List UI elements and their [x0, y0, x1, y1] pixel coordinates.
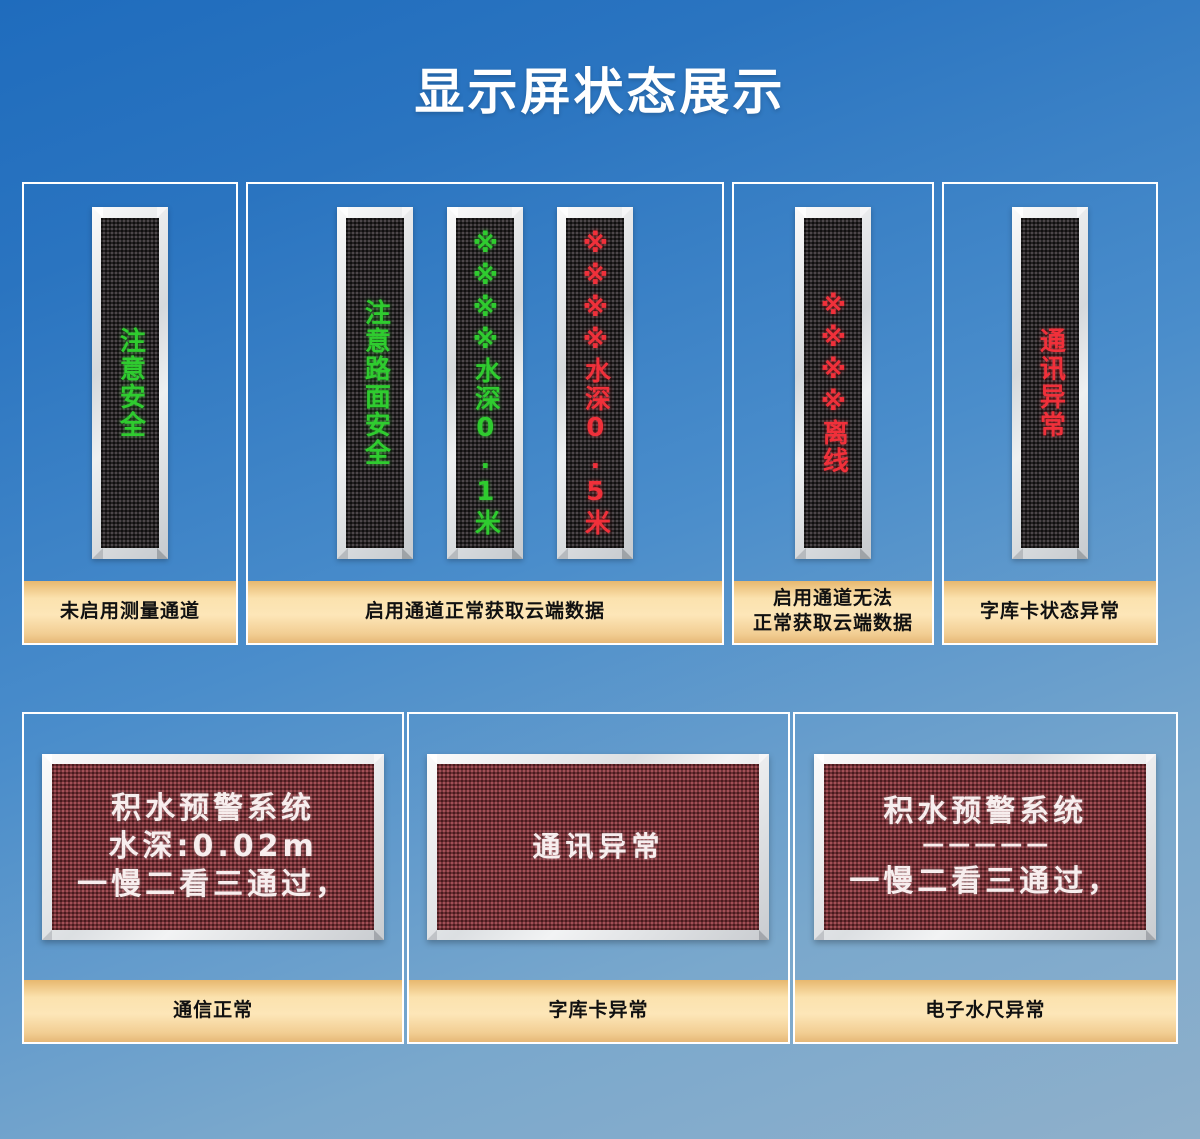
led-text: ※※※※水深0.1米: [470, 229, 501, 537]
frame-bevel-top-right-icon: [622, 207, 633, 218]
frame-bevel-bottom-right-icon: [374, 930, 384, 940]
frame-bevel-bottom-left-icon: [92, 548, 103, 559]
panel-caption: 电子水尺异常: [795, 980, 1176, 1042]
panel-body: ※※※※离线: [734, 184, 932, 581]
led-text: 注意路面安全: [360, 299, 391, 467]
vertical-led-offline: ※※※※离线: [795, 207, 871, 559]
frame-bevel-bottom-left-icon: [795, 548, 806, 559]
panel-communication-normal[interactable]: 积水预警系统 水深:0.02m 一慢二看三通过， 通信正常: [22, 712, 404, 1044]
frame-bevel-bottom-left-icon: [814, 930, 824, 940]
led-text-line-3: 一慢二看三通过，: [849, 863, 1121, 901]
frame-bevel-bottom-right-icon: [1146, 930, 1156, 940]
led-text: 通讯异常: [1035, 327, 1066, 439]
panel-cloud-data-failure[interactable]: ※※※※离线 启用通道无法 正常获取云端数据: [732, 182, 934, 645]
panel-caption-line-1: 启用通道无法: [753, 587, 913, 612]
page-title: 显示屏状态展示: [0, 0, 1200, 124]
frame-bevel-top-right-icon: [759, 754, 769, 764]
frame-bevel-bottom-right-icon: [512, 548, 523, 559]
led-text: ※※※※水深0.5米: [580, 229, 611, 537]
frame-bevel-bottom-left-icon: [337, 548, 348, 559]
led-matrix: 积水预警系统 水深:0.02m 一慢二看三通过，: [52, 764, 374, 930]
frame-bevel-top-left-icon: [795, 207, 806, 218]
led-text-line-1: 积水预警系统: [883, 793, 1087, 831]
panel-font-card-status-abnormal[interactable]: 通讯异常 字库卡状态异常: [942, 182, 1158, 645]
frame-bevel-bottom-right-icon: [157, 548, 168, 559]
led-text-line-3: 一慢二看三通过，: [77, 866, 349, 904]
led-text: ※※※※离线: [818, 291, 849, 475]
panel-caption: 字库卡状态异常: [944, 581, 1156, 643]
panel-no-measurement-channel[interactable]: 注意安全 未启用测量通道: [22, 182, 238, 645]
led-matrix: ※※※※水深0.5米: [566, 218, 624, 548]
horizontal-led-comm-normal: 积水预警系统 水深:0.02m 一慢二看三通过，: [42, 754, 384, 940]
frame-bevel-bottom-right-icon: [622, 548, 633, 559]
panel-body: 通讯异常: [944, 184, 1156, 581]
status-panel-row-bottom: 积水预警系统 水深:0.02m 一慢二看三通过， 通信正常 通讯异常 字库卡异常: [22, 712, 1178, 1044]
vertical-led-comm-abnormal: 通讯异常: [1012, 207, 1088, 559]
led-matrix: 通讯异常: [1021, 218, 1079, 548]
horizontal-led-font-card-error: 通讯异常: [427, 754, 769, 940]
frame-bevel-top-left-icon: [427, 754, 437, 764]
vertical-led-depth-05: ※※※※水深0.5米: [557, 207, 633, 559]
panel-caption-line-2: 正常获取云端数据: [753, 612, 913, 637]
led-matrix: 注意路面安全: [346, 218, 404, 548]
frame-bevel-bottom-right-icon: [860, 548, 871, 559]
panel-cloud-data-normal[interactable]: 注意路面安全 ※※※※水深0.1米 ※※※※水深0.5米: [246, 182, 724, 645]
led-text: 注意安全: [115, 327, 146, 439]
frame-bevel-top-right-icon: [860, 207, 871, 218]
panel-caption: 未启用测量通道: [24, 581, 236, 643]
panel-caption: 字库卡异常: [409, 980, 787, 1042]
frame-bevel-top-left-icon: [42, 754, 52, 764]
panel-body: 积水预警系统 －－－－－ 一慢二看三通过，: [795, 714, 1176, 980]
led-text-line-2: 水深:0.02m: [109, 828, 318, 866]
led-matrix: 通讯异常: [437, 764, 759, 930]
frame-bevel-top-left-icon: [337, 207, 348, 218]
panel-caption: 启用通道正常获取云端数据: [248, 581, 722, 643]
panel-body: 注意路面安全 ※※※※水深0.1米 ※※※※水深0.5米: [248, 184, 722, 581]
frame-bevel-bottom-right-icon: [402, 548, 413, 559]
led-matrix: 积水预警系统 －－－－－ 一慢二看三通过，: [824, 764, 1146, 930]
frame-bevel-top-right-icon: [157, 207, 168, 218]
frame-bevel-top-right-icon: [1146, 754, 1156, 764]
panel-body: 积水预警系统 水深:0.02m 一慢二看三通过，: [24, 714, 402, 980]
frame-bevel-top-right-icon: [512, 207, 523, 218]
led-matrix: ※※※※离线: [804, 218, 862, 548]
frame-bevel-bottom-left-icon: [557, 548, 568, 559]
panel-caption: 通信正常: [24, 980, 402, 1042]
status-panel-row-top: 注意安全 未启用测量通道 注意路面安全: [22, 182, 1178, 645]
led-text-line-1: 通讯异常: [532, 829, 664, 864]
frame-bevel-top-left-icon: [557, 207, 568, 218]
led-matrix: 注意安全: [101, 218, 159, 548]
frame-bevel-top-left-icon: [814, 754, 824, 764]
vertical-led-road-safety: 注意路面安全: [337, 207, 413, 559]
frame-bevel-top-right-icon: [1077, 207, 1088, 218]
frame-bevel-bottom-right-icon: [1077, 548, 1088, 559]
frame-bevel-top-right-icon: [402, 207, 413, 218]
frame-bevel-top-left-icon: [447, 207, 458, 218]
frame-bevel-bottom-left-icon: [427, 930, 437, 940]
frame-bevel-top-left-icon: [92, 207, 103, 218]
panel-electronic-water-ruler-error[interactable]: 积水预警系统 －－－－－ 一慢二看三通过， 电子水尺异常: [793, 712, 1178, 1044]
led-matrix: ※※※※水深0.1米: [456, 218, 514, 548]
panel-caption: 启用通道无法 正常获取云端数据: [734, 581, 932, 643]
frame-bevel-bottom-left-icon: [1012, 548, 1023, 559]
vertical-led-depth-01: ※※※※水深0.1米: [447, 207, 523, 559]
led-text-line-1: 积水预警系统: [111, 790, 315, 828]
frame-bevel-bottom-left-icon: [42, 930, 52, 940]
panel-font-card-error[interactable]: 通讯异常 字库卡异常: [407, 712, 789, 1044]
horizontal-led-water-ruler-error: 积水预警系统 －－－－－ 一慢二看三通过，: [814, 754, 1156, 940]
frame-bevel-top-left-icon: [1012, 207, 1023, 218]
frame-bevel-bottom-right-icon: [759, 930, 769, 940]
panel-body: 注意安全: [24, 184, 236, 581]
vertical-led-attention-safety: 注意安全: [92, 207, 168, 559]
frame-bevel-top-right-icon: [374, 754, 384, 764]
led-text-line-2: －－－－－: [920, 831, 1050, 864]
panel-body: 通讯异常: [409, 714, 787, 980]
frame-bevel-bottom-left-icon: [447, 548, 458, 559]
